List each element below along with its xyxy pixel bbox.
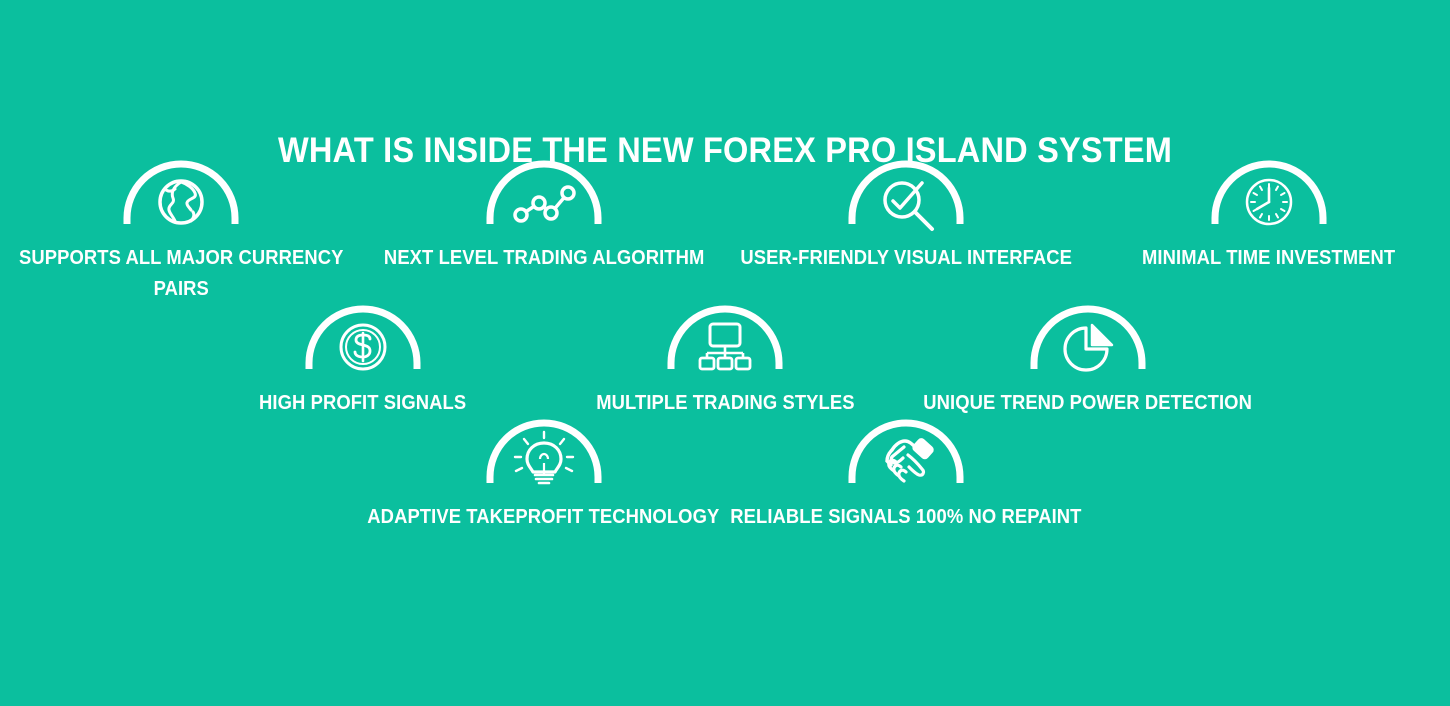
feature-section: WHAT IS INSIDE THE NEW FOREX PRO ISLAND … (0, 0, 1450, 706)
feature-label: HIGH PROFIT SIGNALS (259, 388, 466, 419)
search-check-icon (848, 160, 964, 224)
dollar-coin-icon (305, 305, 421, 369)
feature-row-3: ADAPTIVE TAKEPROFIT TECHNOLOGY (0, 419, 1450, 533)
lightbulb-icon (486, 419, 602, 483)
feature-item-unique-trend-power-detection: UNIQUE TREND POWER DETECTION (906, 305, 1269, 419)
feature-item-reliable-signals-no-repaint: RELIABLE SIGNALS 100% NO REPAINT (725, 419, 1088, 533)
feature-item-high-profit-signals: HIGH PROFIT SIGNALS (181, 305, 544, 419)
network-monitor-icon (667, 305, 783, 369)
globe-icon (123, 160, 239, 224)
feature-label: SUPPORTS ALL MAJOR CURRENCY PAIRS (15, 243, 349, 305)
feature-item-supports-all-major-currency-pairs: SUPPORTS ALL MAJOR CURRENCY PAIRS (0, 160, 363, 305)
feature-label: MINIMAL TIME INVESTMENT (1142, 243, 1395, 274)
pie-chart-icon (1030, 305, 1146, 369)
feature-label: ADAPTIVE TAKEPROFIT TECHNOLOGY (368, 502, 720, 533)
feature-grid: SUPPORTS ALL MAJOR CURRENCY PAIRS NEXT L… (0, 160, 1450, 533)
feature-label: UNIQUE TREND POWER DETECTION (923, 388, 1252, 419)
handshake-icon (848, 419, 964, 483)
feature-label: USER-FRIENDLY VISUAL INTERFACE (740, 243, 1072, 274)
clock-icon (1211, 160, 1327, 224)
feature-item-next-level-trading-algorithm: NEXT LEVEL TRADING ALGORITHM (363, 160, 726, 274)
feature-item-minimal-time-investment: MINIMAL TIME INVESTMENT (1088, 160, 1450, 274)
line-chart-icon (486, 160, 602, 224)
feature-item-multiple-trading-styles: MULTIPLE TRADING STYLES (544, 305, 907, 419)
feature-label: MULTIPLE TRADING STYLES (596, 388, 854, 419)
feature-item-adaptive-takeprofit-technology: ADAPTIVE TAKEPROFIT TECHNOLOGY (363, 419, 726, 533)
feature-item-user-friendly-visual-interface: USER-FRIENDLY VISUAL INTERFACE (725, 160, 1088, 274)
feature-label: RELIABLE SIGNALS 100% NO REPAINT (731, 502, 1082, 533)
feature-row-2: HIGH PROFIT SIGNALS MULTIP (0, 305, 1450, 419)
feature-label: NEXT LEVEL TRADING ALGORITHM (383, 243, 703, 274)
feature-row-1: SUPPORTS ALL MAJOR CURRENCY PAIRS NEXT L… (0, 160, 1450, 305)
